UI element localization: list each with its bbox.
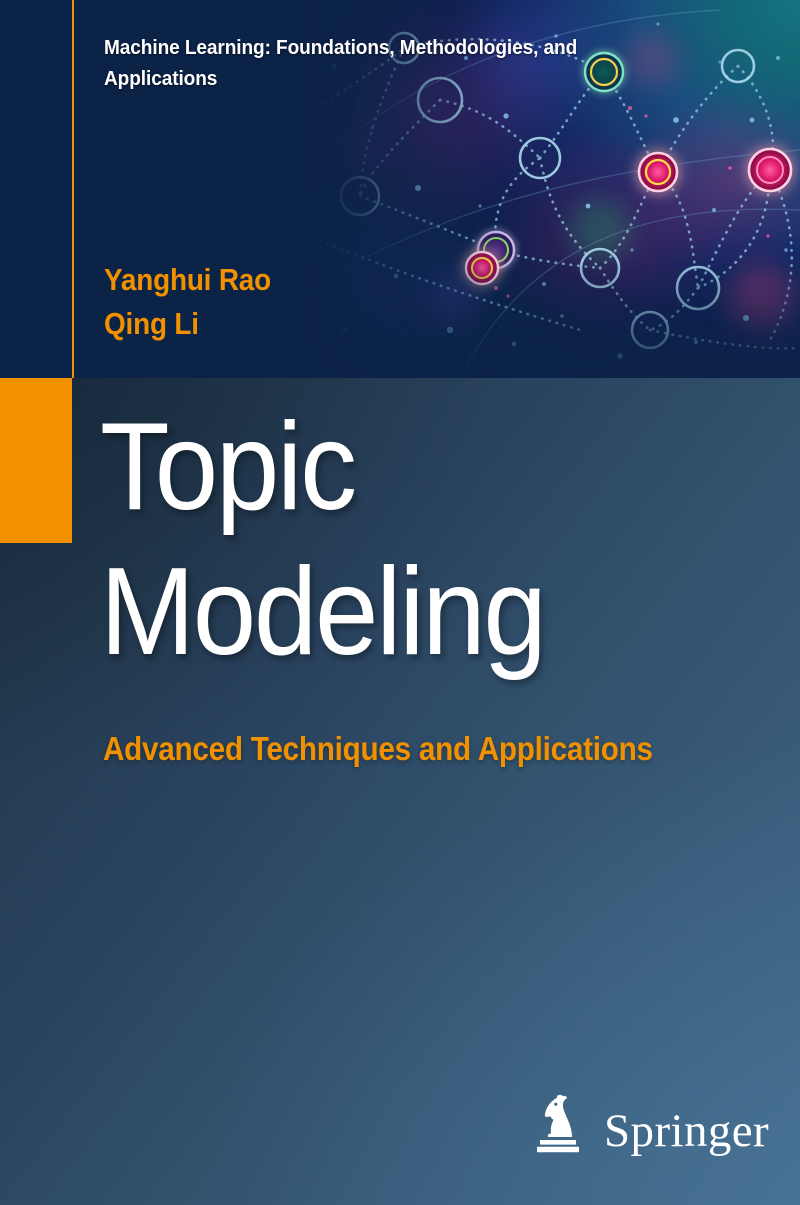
author-list: Yanghui Rao Qing Li	[104, 258, 271, 346]
book-title-line-1: Topic	[100, 395, 707, 540]
orange-vertical-rule	[72, 0, 74, 378]
artwork-node-magenta-1	[639, 153, 677, 191]
author-name: Qing Li	[104, 302, 271, 346]
orange-accent-block	[0, 378, 72, 543]
book-cover: Machine Learning: Foundations, Methodolo…	[0, 0, 800, 1205]
book-title: Topic Modeling	[100, 395, 707, 685]
publisher-name: Springer	[604, 1108, 769, 1155]
series-title: Machine Learning: Foundations, Methodolo…	[104, 32, 625, 94]
springer-knight-icon	[533, 1093, 591, 1155]
artwork-node-magenta-2	[749, 149, 791, 191]
artwork-bottom-fade	[300, 258, 800, 378]
cover-header-panel: Machine Learning: Foundations, Methodolo…	[0, 0, 800, 378]
author-name: Yanghui Rao	[104, 258, 271, 302]
book-title-line-2: Modeling	[100, 540, 707, 685]
publisher-logo: Springer	[533, 1093, 769, 1155]
book-subtitle: Advanced Techniques and Applications	[103, 730, 653, 768]
